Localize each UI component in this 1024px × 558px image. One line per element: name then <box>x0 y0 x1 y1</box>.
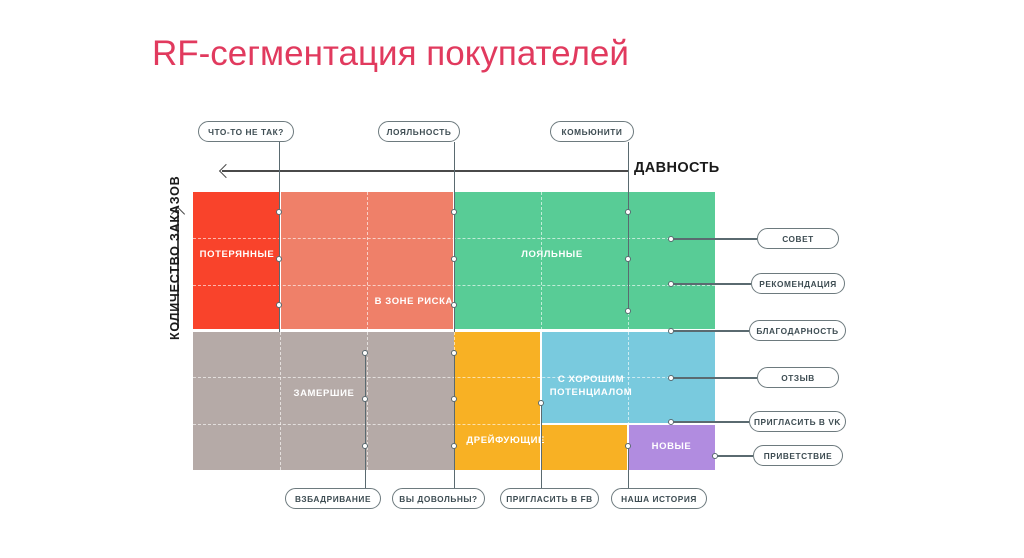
callout-right-3[interactable]: БЛАГОДАРНОСТЬ <box>749 320 846 341</box>
connector-dot <box>451 256 457 262</box>
callout-bottom-1[interactable]: ВЗБАДРИВАНИЕ <box>285 488 381 509</box>
connector-right-3 <box>671 330 749 332</box>
connector-dot <box>451 209 457 215</box>
connector-dot <box>668 236 674 242</box>
connector-dot <box>276 209 282 215</box>
callout-top-2[interactable]: ЛОЯЛЬНОСТЬ <box>378 121 460 142</box>
callout-top-1[interactable]: ЧТО-ТО НЕ ТАК? <box>198 121 294 142</box>
page-title: RF-сегментация покупателей <box>152 34 629 74</box>
connector-top-3 <box>628 142 630 312</box>
callout-right-1[interactable]: СОВЕТ <box>757 228 839 249</box>
connector-dot <box>625 308 631 314</box>
axis-line <box>222 170 628 172</box>
y-axis-label: КОЛИЧЕСТВО ЗАКАЗОВ <box>168 175 182 340</box>
callout-bottom-3[interactable]: ПРИГЛАСИТЬ В FB <box>500 488 599 509</box>
connector-dot <box>712 453 718 459</box>
connector-bottom-3 <box>541 400 543 488</box>
connector-right-5 <box>671 421 749 423</box>
connector-dot <box>362 443 368 449</box>
segment-cell-new[interactable] <box>628 424 715 470</box>
callout-bottom-2[interactable]: ВЫ ДОВОЛЬНЫ? <box>392 488 485 509</box>
connector-dot <box>451 302 457 308</box>
connector-dot <box>451 396 457 402</box>
connector-right-1 <box>671 238 757 240</box>
segment-cell-drifting[interactable] <box>454 331 541 470</box>
connector-dot <box>538 400 544 406</box>
connector-dot <box>668 419 674 425</box>
connector-dot <box>451 350 457 356</box>
segment-cell-loyal[interactable] <box>454 192 715 331</box>
connector-dot <box>625 256 631 262</box>
connector-right-6 <box>715 455 753 457</box>
arrow-left-icon <box>219 164 233 178</box>
callout-right-4[interactable]: ОТЗЫВ <box>757 367 839 388</box>
connector-dot <box>276 256 282 262</box>
segment-cell-frozen[interactable] <box>193 331 454 470</box>
callout-right-6[interactable]: ПРИВЕТСТВИЕ <box>753 445 843 466</box>
connector-dot <box>276 302 282 308</box>
callout-right-5[interactable]: ПРИГЛАСИТЬ В VK <box>749 411 846 432</box>
connector-dot <box>625 443 631 449</box>
connector-dot <box>362 396 368 402</box>
segment-cell-drifting-lower[interactable] <box>541 424 628 470</box>
connector-right-2 <box>671 283 751 285</box>
recency-axis-arrow <box>222 170 628 172</box>
connector-dot <box>362 350 368 356</box>
segment-cell-at-risk[interactable] <box>280 192 454 331</box>
connector-bottom-1 <box>365 350 367 488</box>
x-axis-label: ДАВНОСТЬ <box>634 160 720 176</box>
connector-right-4 <box>671 377 757 379</box>
callout-right-2[interactable]: РЕКОМЕНДАЦИЯ <box>751 273 845 294</box>
connector-dot <box>668 328 674 334</box>
connector-dot <box>668 375 674 381</box>
callout-top-3[interactable]: КОМЬЮНИТИ <box>550 121 634 142</box>
callout-bottom-4[interactable]: НАША ИСТОРИЯ <box>611 488 707 509</box>
connector-dot <box>668 281 674 287</box>
connector-bottom-2 <box>454 350 456 488</box>
connector-dot <box>451 443 457 449</box>
connector-dot <box>625 209 631 215</box>
segment-cell-lost[interactable] <box>193 192 280 331</box>
connector-bottom-4 <box>628 443 630 488</box>
